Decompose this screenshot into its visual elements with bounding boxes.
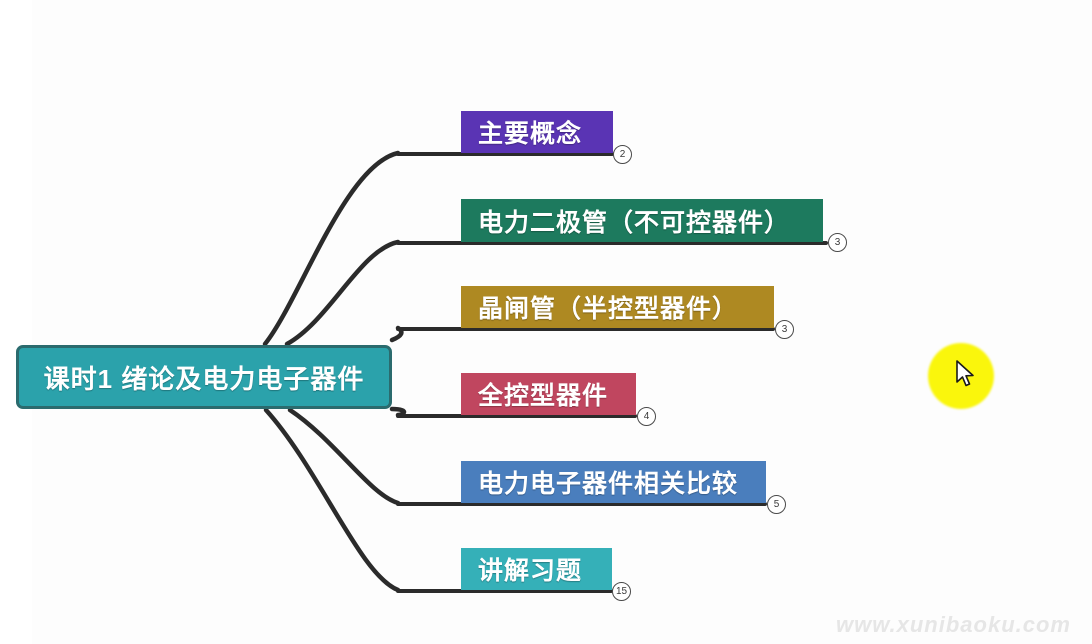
mindmap-branch-node-6[interactable]: 讲解习题 bbox=[461, 548, 612, 590]
connector-line-0 bbox=[265, 153, 398, 344]
mindmap-branch-node-3[interactable]: 晶闸管（半控型器件） bbox=[461, 286, 774, 328]
site-watermark: www.xunibaoku.com bbox=[836, 612, 1071, 638]
mindmap-branch-node-5[interactable]: 电力电子器件相关比较 bbox=[461, 461, 766, 503]
node-count-badge[interactable]: 4 bbox=[637, 407, 656, 426]
node-count-badge[interactable]: 3 bbox=[775, 320, 794, 339]
node-count-badge[interactable]: 5 bbox=[767, 495, 786, 514]
connector-line-5 bbox=[266, 410, 398, 590]
mindmap-branch-node-2[interactable]: 电力二极管（不可控器件） bbox=[461, 199, 823, 242]
node-count-badge[interactable]: 3 bbox=[828, 233, 847, 252]
mindmap-branch-node-4[interactable]: 全控型器件 bbox=[461, 373, 636, 415]
mindmap-canvas: 课时1 绪论及电力电子器件 主要概念 电力二极管（不可控器件） 晶闸管（半控型器… bbox=[0, 0, 1092, 644]
connector-line-4 bbox=[290, 410, 398, 503]
mindmap-root-node[interactable]: 课时1 绪论及电力电子器件 bbox=[16, 345, 392, 409]
connector-line-1 bbox=[287, 242, 398, 344]
mindmap-branch-node-1[interactable]: 主要概念 bbox=[461, 111, 613, 153]
node-count-badge[interactable]: 15 bbox=[612, 582, 631, 601]
arrow-cursor-icon bbox=[955, 360, 977, 390]
node-count-badge[interactable]: 2 bbox=[613, 145, 632, 164]
